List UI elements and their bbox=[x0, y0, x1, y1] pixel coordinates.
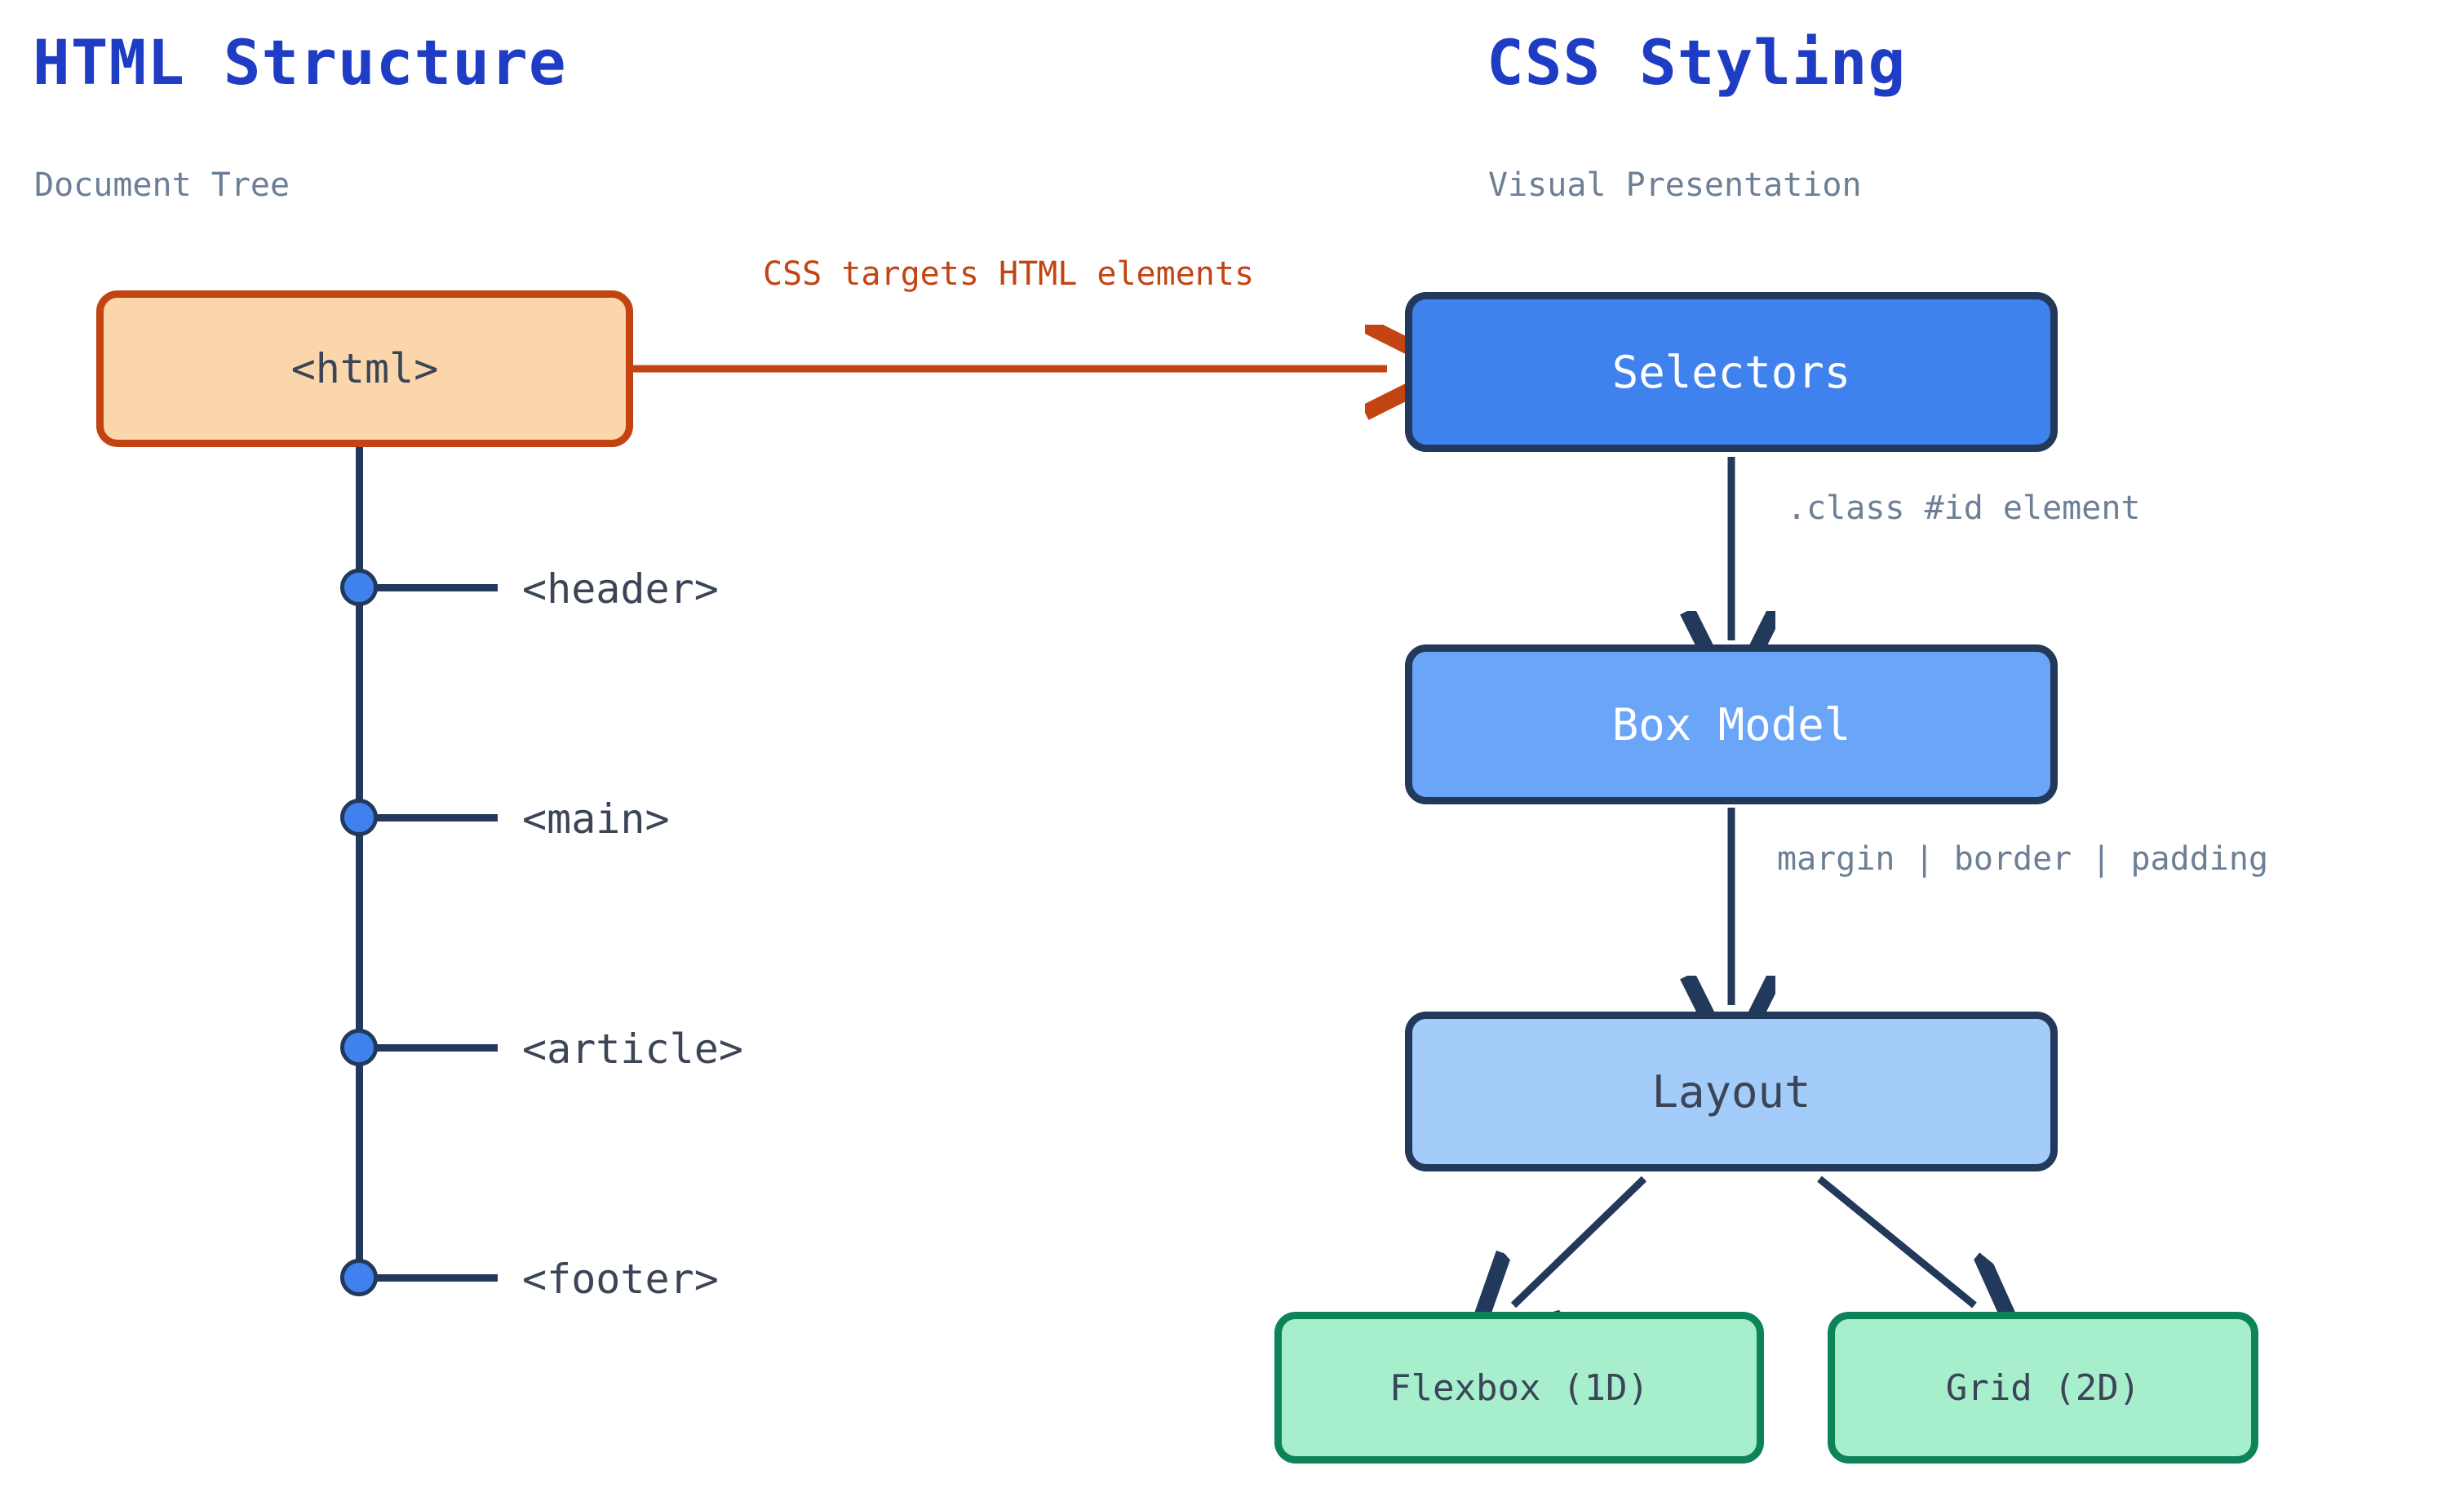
css-node-selectors-label: Selectors bbox=[1612, 347, 1851, 398]
html-root-node[interactable]: <html> bbox=[96, 290, 633, 447]
tree-branch-main bbox=[377, 814, 498, 821]
tree-label-footer: <footer> bbox=[522, 1255, 719, 1303]
right-column-title: CSS Styling bbox=[1487, 26, 1906, 99]
tree-node-dot-article[interactable] bbox=[340, 1029, 378, 1066]
tree-node-dot-main[interactable] bbox=[340, 799, 378, 836]
tree-node-dot-header[interactable] bbox=[340, 569, 378, 606]
cross-link-label: CSS targets HTML elements bbox=[763, 255, 1254, 293]
tree-label-main: <main> bbox=[522, 795, 670, 843]
css-node-box-model[interactable]: Box Model bbox=[1405, 644, 2058, 804]
edge-label-selectors-to-boxmodel: .class #id element bbox=[1787, 489, 2140, 527]
tree-label-header: <header> bbox=[522, 565, 719, 613]
diagram-canvas: Selectors box --> HTML Structure Documen… bbox=[0, 0, 2464, 1488]
css-node-selectors[interactable]: Selectors bbox=[1405, 292, 2058, 452]
left-column-subtitle: Document Tree bbox=[34, 166, 290, 204]
layout-to-flexbox-arrow bbox=[1513, 1179, 1644, 1305]
tree-branch-footer bbox=[377, 1274, 498, 1282]
css-node-layout[interactable]: Layout bbox=[1405, 1012, 2058, 1171]
css-node-layout-label: Layout bbox=[1651, 1066, 1810, 1118]
tree-branch-article bbox=[377, 1044, 498, 1052]
edge-label-boxmodel-to-layout: margin | border | padding bbox=[1777, 840, 2268, 878]
right-column-subtitle: Visual Presentation bbox=[1488, 166, 1862, 204]
css-leaf-grid-label: Grid (2D) bbox=[1946, 1367, 2140, 1409]
left-column-title: HTML Structure bbox=[33, 26, 567, 99]
css-leaf-flexbox-label: Flexbox (1D) bbox=[1389, 1367, 1649, 1409]
layout-to-grid-arrow bbox=[1819, 1179, 1974, 1305]
tree-node-dot-footer[interactable] bbox=[340, 1259, 378, 1296]
tree-label-article: <article> bbox=[522, 1025, 743, 1073]
html-root-label: <html> bbox=[291, 345, 439, 392]
css-node-box-model-label: Box Model bbox=[1612, 699, 1851, 751]
css-leaf-flexbox[interactable]: Flexbox (1D) bbox=[1274, 1312, 1764, 1464]
css-leaf-grid[interactable]: Grid (2D) bbox=[1828, 1312, 2258, 1464]
tree-branch-header bbox=[377, 584, 498, 591]
